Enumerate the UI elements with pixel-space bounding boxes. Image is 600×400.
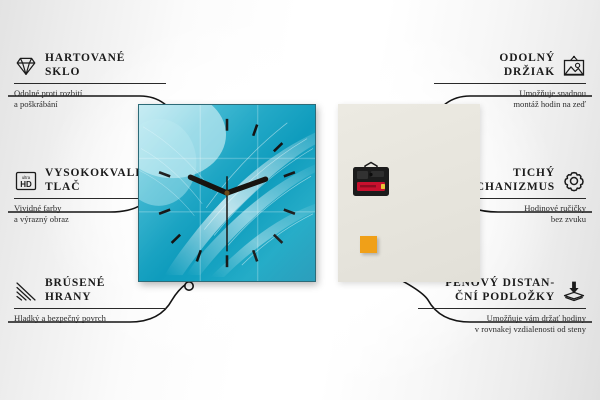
diamond-icon: [14, 55, 38, 77]
clock-mechanism-photo: [338, 104, 480, 282]
divider-rule: [14, 308, 166, 309]
feature-durable-hanger: ODOLNÝ DRŽIAK Umožňuje snadnou montáž ho…: [434, 52, 586, 110]
feature-foam-spacers: PENOVÝ DISTAN- ČNÍ PODLOŽKY Umožňuje vám…: [418, 277, 586, 335]
ultra-hd-icon: ultra HD: [14, 170, 38, 192]
connector-dot-3: [185, 282, 193, 290]
feature-header: HARTOVANÉ SKLO: [14, 52, 166, 79]
feature-desc: Hladký a bezpečný povrch: [14, 313, 166, 324]
feature-title: HARTOVANÉ SKLO: [45, 52, 125, 79]
foam-spacer-icon: [562, 280, 586, 302]
feature-tempered-glass: HARTOVANÉ SKLO Odolné proti rozbití a po…: [14, 52, 166, 110]
feature-header: ODOLNÝ DRŽIAK: [434, 52, 586, 79]
feature-title: BRÚSENÉ HRANY: [45, 277, 105, 304]
beveled-edges-icon: [14, 280, 38, 302]
picture-hanger-icon: [562, 55, 586, 77]
divider-rule: [434, 83, 586, 84]
wall-clock-product-image: [138, 104, 316, 282]
product-infographic: HARTOVANÉ SKLO Odolné proti rozbití a po…: [0, 0, 600, 400]
feature-beveled-edges: BRÚSENÉ HRANY Hladký a bezpečný povrch: [14, 277, 166, 324]
gear-icon: [562, 170, 586, 192]
clock-center-cap: [224, 190, 229, 195]
divider-rule: [14, 83, 166, 84]
foam-spacer-pad: [360, 236, 377, 253]
feature-desc: Umožňuje vám držať hodiny v rovnakej vzd…: [418, 313, 586, 335]
svg-text:HD: HD: [20, 180, 32, 189]
clock-face-artwork: [139, 105, 315, 281]
divider-rule: [418, 308, 586, 309]
quartz-movement-icon: [351, 161, 391, 199]
feature-title: ODOLNÝ DRŽIAK: [499, 52, 555, 79]
